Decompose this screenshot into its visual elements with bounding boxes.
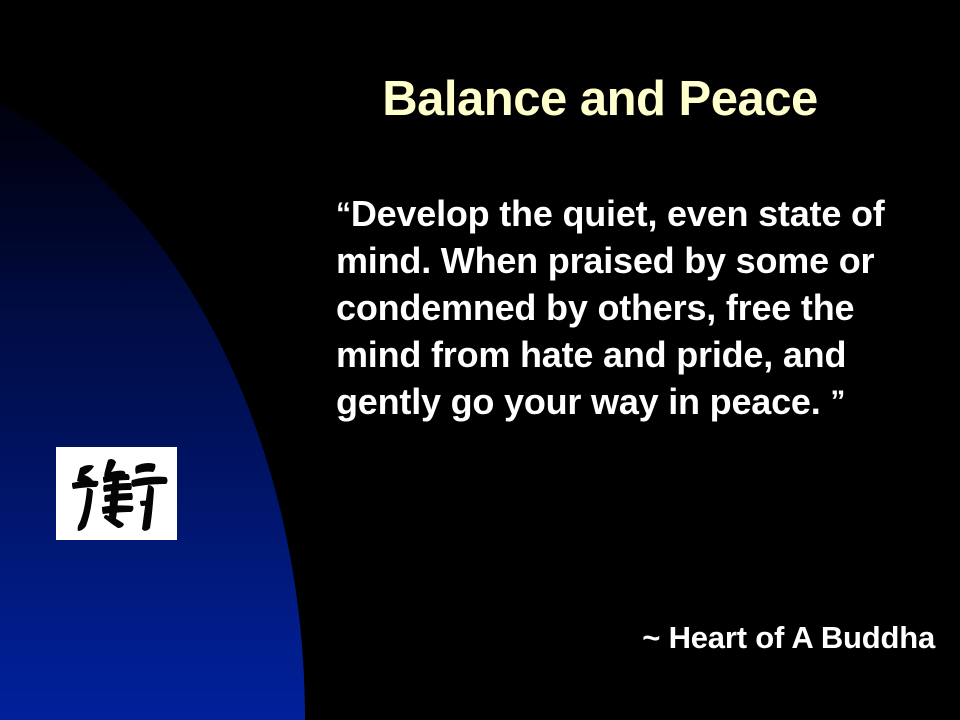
calligraphy-image bbox=[56, 447, 177, 540]
quote-body: Develop the quiet, even state of mind. W… bbox=[336, 193, 885, 422]
balance-character-icon bbox=[62, 452, 172, 536]
open-quote-mark: “ bbox=[336, 197, 351, 230]
slide-canvas: Balance and Peace “Develop the quiet, ev… bbox=[0, 0, 960, 720]
blue-ellipse-decoration bbox=[0, 60, 305, 720]
quote-text-block: “Develop the quiet, even state of mind. … bbox=[336, 190, 936, 425]
quote-attribution: ~ Heart of A Buddha bbox=[400, 620, 935, 656]
slide-title: Balance and Peace bbox=[300, 74, 900, 125]
close-quote-mark: ” bbox=[830, 385, 845, 418]
